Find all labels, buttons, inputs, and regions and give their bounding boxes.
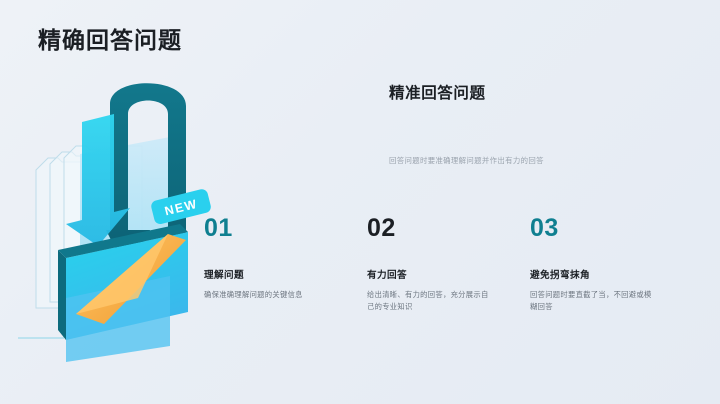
card-side-edge <box>58 250 66 340</box>
column-title: 有力回答 <box>367 270 530 282</box>
columns-group: 01 理解问题 确保准确理解问题的关键信息 02 有力回答 给出清晰、有力的回答… <box>204 216 704 313</box>
column-title: 避免拐弯抹角 <box>530 270 693 282</box>
content-heading: 精准回答问题 <box>389 84 689 104</box>
column-body: 给出清晰、有力的回答，充分展示自己的专业知识 <box>367 289 491 313</box>
column-01: 01 理解问题 确保准确理解问题的关键信息 <box>204 216 367 313</box>
column-title: 理解问题 <box>204 270 367 282</box>
content-subtitle: 回答问题时要准确理解问题并作出有力的回答 <box>389 155 689 166</box>
column-body: 确保准确理解问题的关键信息 <box>204 289 328 301</box>
page-title: 精确回答问题 <box>38 27 182 55</box>
column-03: 03 避免拐弯抹角 回答问题时要直截了当，不回避或模糊回答 <box>530 216 693 313</box>
column-number: 03 <box>530 216 693 241</box>
slide-canvas: 精确回答问题 <box>0 0 720 404</box>
column-number: 02 <box>367 216 530 241</box>
column-02: 02 有力回答 给出清晰、有力的回答，充分展示自己的专业知识 <box>367 216 530 313</box>
column-body: 回答问题时要直截了当，不回避或模糊回答 <box>530 289 654 313</box>
illustration: NEW <box>18 62 248 362</box>
content-block: 精准回答问题 回答问题时要准确理解问题并作出有力的回答 <box>389 84 689 104</box>
column-number: 01 <box>204 216 367 241</box>
